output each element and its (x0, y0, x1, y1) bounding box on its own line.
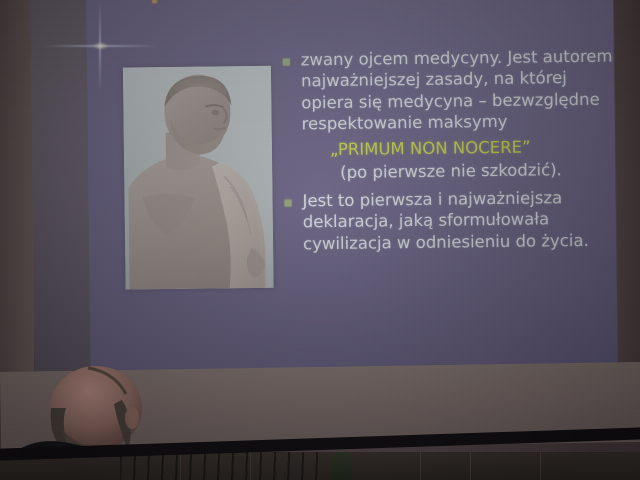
photograph-scene: Hipokrates (460 - 377 p.n.e.) (0, 0, 640, 480)
square-bullet-icon (285, 199, 292, 206)
presentation-slide: Hipokrates (460 - 377 p.n.e.) (86, 0, 618, 380)
foliage (330, 452, 352, 480)
slide-bullet-list: zwany ojcem medycyny. Jest autorem najwa… (283, 46, 616, 257)
square-bullet-icon (283, 59, 290, 66)
bullet-item-text: zwany ojcem medycyny. Jest autorem najwa… (301, 46, 614, 136)
wall-left-panel (0, 0, 34, 400)
bullet-item: Jest to pierwsza i najważniejsza deklara… (284, 186, 615, 254)
hippocrates-statue-image (123, 66, 274, 290)
slide-title: Hipokrates (460 - 377 p.n.e.) (120, 0, 600, 5)
bullet-item-text: Jest to pierwsza i najważniejsza deklara… (302, 186, 615, 254)
maxim-translation: (po pierwsze nie szkodzić). (340, 159, 614, 184)
bullet-item: zwany ojcem medycyny. Jest autorem najwa… (283, 46, 615, 185)
chair-back-slats (120, 452, 320, 480)
latin-maxim-highlight: „PRIMUM NON NOCERE” (330, 135, 614, 160)
